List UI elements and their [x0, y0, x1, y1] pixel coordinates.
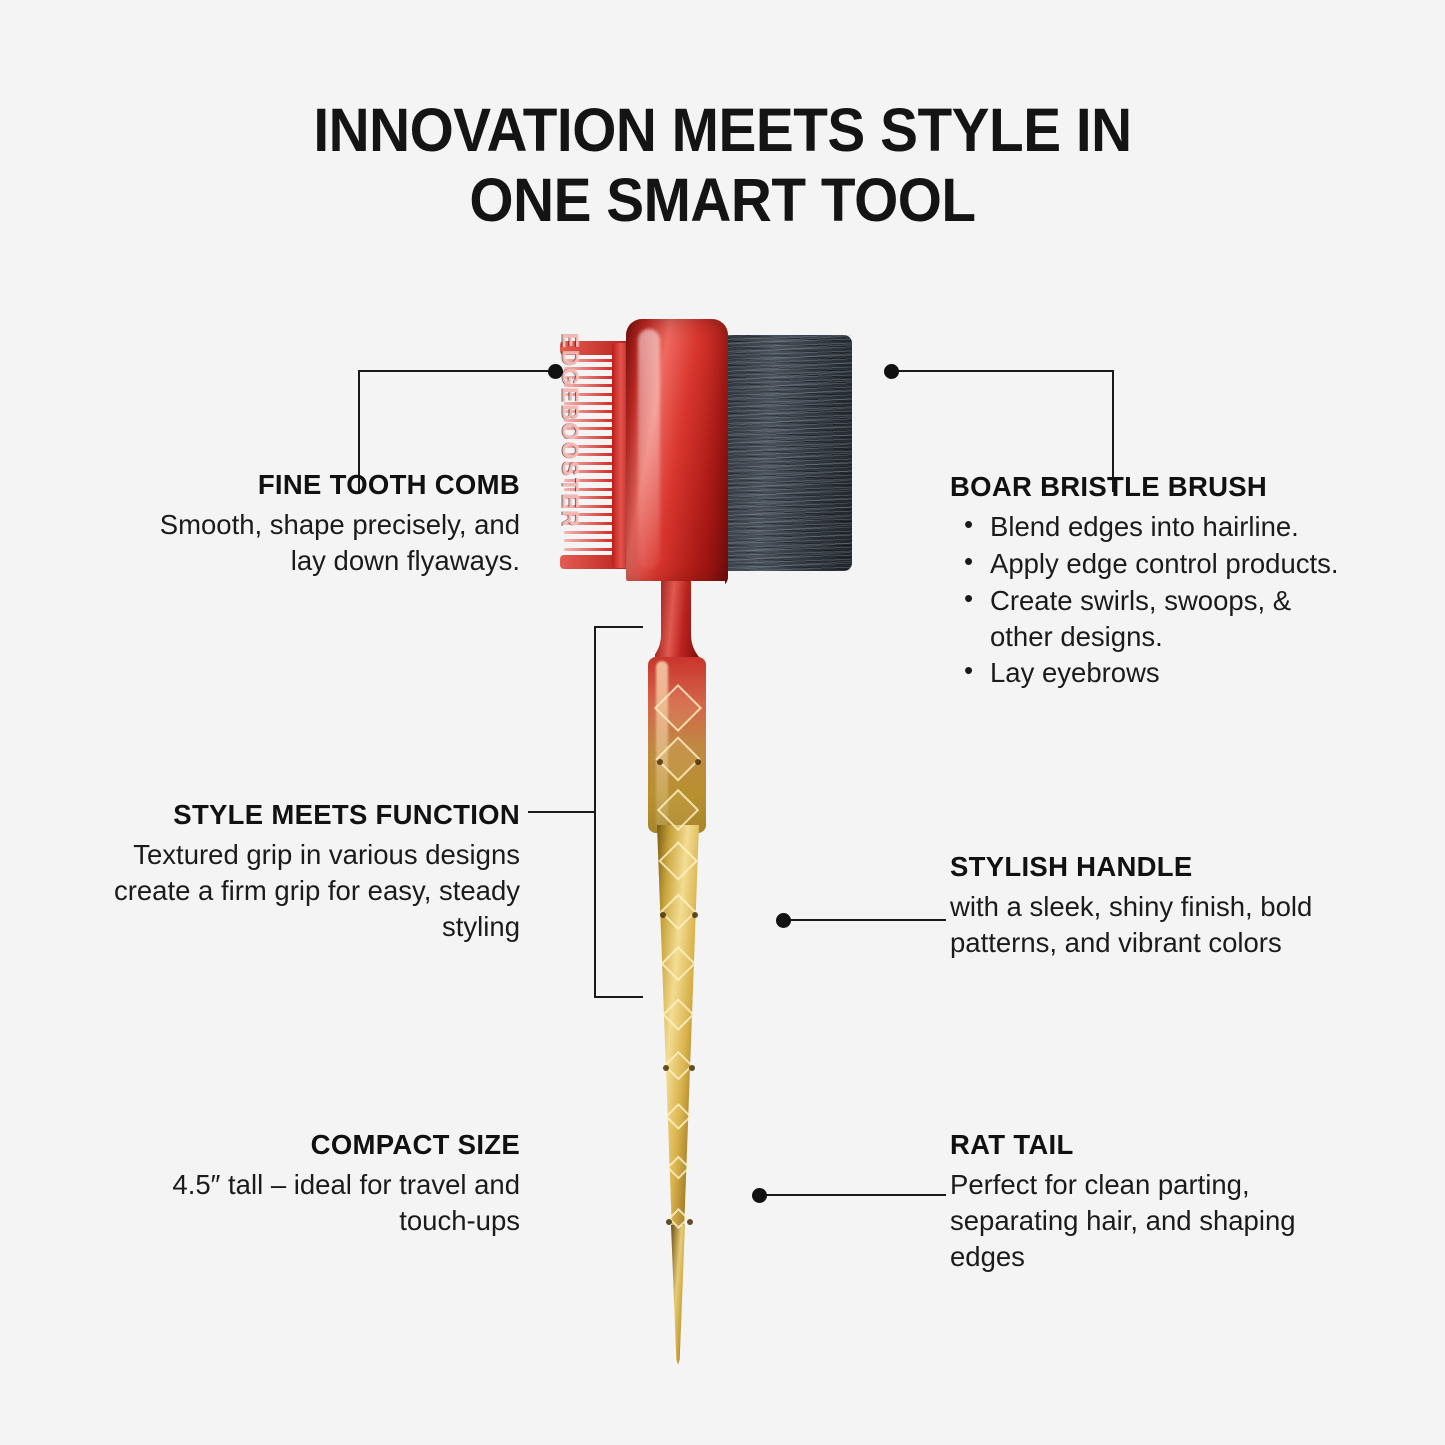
grip-rivet: [657, 759, 663, 765]
grip-diamond: [662, 998, 694, 1030]
leader-dot: [548, 364, 563, 379]
rat-tail-tip: [671, 1225, 685, 1365]
diamond-lattice-pattern: [652, 677, 704, 1237]
callout-boar-bristle-brush: BOAR BRISTLE BRUSH Blend edges into hair…: [950, 470, 1350, 692]
infographic-canvas: INNOVATION MEETS STYLE IN ONE SMART TOOL…: [0, 0, 1445, 1445]
callout-bullet-item: Create swirls, swoops, & other designs.: [950, 583, 1350, 655]
callout-body: Smooth, shape precisely, and lay down fl…: [120, 507, 520, 579]
callout-body: Textured grip in various designs create …: [60, 837, 520, 944]
leader-dot: [752, 1188, 767, 1203]
callout-bullet-item: Blend edges into hairline.: [950, 509, 1350, 545]
callout-title: STYLE MEETS FUNCTION: [60, 798, 520, 832]
callout-title: COMPACT SIZE: [140, 1128, 520, 1162]
callout-title: STYLISH HANDLE: [950, 850, 1350, 884]
page-title: INNOVATION MEETS STYLE IN ONE SMART TOOL: [51, 96, 1395, 235]
grip-rivet: [692, 912, 698, 918]
callout-title: BOAR BRISTLE BRUSH: [950, 470, 1350, 504]
callout-rat-tail: RAT TAIL Perfect for clean parting, sepa…: [950, 1128, 1350, 1275]
grip-rivet: [689, 1065, 695, 1071]
grip-diamond: [666, 1156, 690, 1180]
body-highlight: [638, 329, 660, 569]
grip-diamond: [658, 841, 698, 881]
callout-body: with a sleek, shiny finish, bold pattern…: [950, 889, 1350, 961]
leader-line-rat-tail: [752, 1188, 946, 1204]
callout-style-meets-function: STYLE MEETS FUNCTION Textured grip in va…: [60, 798, 520, 945]
red-body: [626, 319, 728, 587]
grip-rivet: [687, 1219, 693, 1225]
leader-line-stylish-handle: [776, 913, 946, 929]
leader-bracket-style-meets-function: [528, 626, 643, 998]
grip-diamond: [665, 1103, 692, 1130]
grip-rivet: [663, 1065, 669, 1071]
callout-bullet-item: Apply edge control products.: [950, 546, 1350, 582]
callout-stylish-handle: STYLISH HANDLE with a sleek, shiny finis…: [950, 850, 1350, 961]
callout-body: 4.5″ tall – ideal for travel and touch-u…: [140, 1167, 520, 1239]
grip-rivet: [666, 1219, 672, 1225]
leader-dot: [776, 913, 791, 928]
boar-bristle-block: [724, 335, 852, 571]
grip-diamond: [654, 684, 702, 732]
callout-compact-size: COMPACT SIZE 4.5″ tall – ideal for trave…: [140, 1128, 520, 1239]
grip-rivet: [695, 759, 701, 765]
callout-fine-tooth-comb: FINE TOOTH COMB Smooth, shape precisely,…: [120, 468, 520, 579]
headline-line-1: INNOVATION MEETS STYLE IN: [51, 96, 1395, 166]
headline-line-2: ONE SMART TOOL: [51, 166, 1395, 236]
grip-diamond: [661, 946, 696, 981]
leader-dot: [884, 364, 899, 379]
callout-title: RAT TAIL: [950, 1128, 1350, 1162]
grip-diamond: [657, 789, 700, 832]
callout-body: Perfect for clean parting, separating ha…: [950, 1167, 1350, 1274]
grip-rivet: [660, 912, 666, 918]
callout-bullet-list: Blend edges into hairline.Apply edge con…: [950, 509, 1350, 691]
callout-bullet-item: Lay eyebrows: [950, 655, 1350, 691]
callout-title: FINE TOOTH COMB: [120, 468, 520, 502]
